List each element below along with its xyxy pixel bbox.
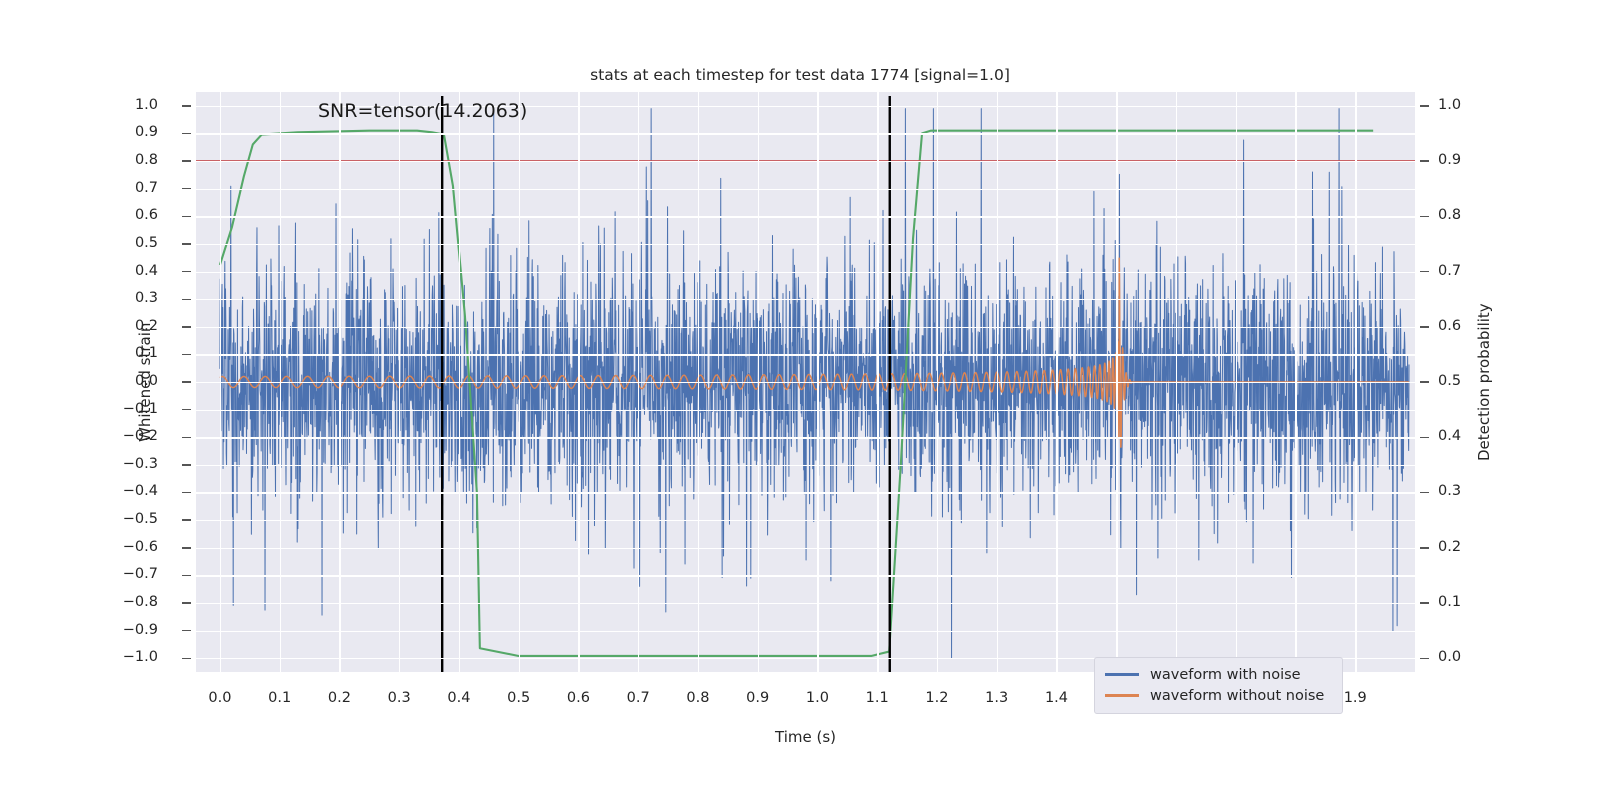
gridline-horizontal (196, 575, 1415, 576)
y-tick-mark-left (182, 409, 191, 410)
gridline-horizontal (196, 520, 1415, 521)
gridline-horizontal (196, 244, 1415, 245)
gridline-vertical (1295, 92, 1296, 672)
gridline-vertical (937, 92, 938, 672)
y-tick-mark-left (182, 381, 191, 382)
y-tick-label-left: 0.9 (110, 124, 158, 140)
legend-item[interactable]: waveform without noise (1105, 685, 1332, 706)
gridline-vertical (997, 92, 998, 672)
gridline-horizontal (196, 299, 1415, 300)
y-tick-label-right: 0.8 (1438, 207, 1461, 223)
gridline-horizontal (196, 327, 1415, 328)
gridline-vertical (399, 92, 400, 672)
y-tick-mark-left (182, 437, 191, 438)
gridline-horizontal (196, 133, 1415, 134)
x-tick-label: 1.0 (787, 690, 847, 706)
y-tick-label-left: −1.0 (110, 649, 158, 665)
y-tick-mark-right (1420, 602, 1429, 603)
y-tick-label-right: 0.0 (1438, 649, 1461, 665)
x-tick-label: 1.4 (1026, 690, 1086, 706)
y-tick-label-left: −0.1 (110, 401, 158, 417)
plot-area (196, 92, 1415, 672)
gridline-vertical (459, 92, 460, 672)
x-tick-label: 0.3 (369, 690, 429, 706)
y-tick-label-left: 0.8 (110, 152, 158, 168)
snr-annotation: SNR=tensor(14.2063) (318, 100, 527, 122)
y-tick-label-right: 0.5 (1438, 373, 1461, 389)
y-tick-label-left: −0.6 (110, 539, 158, 555)
gridline-vertical (339, 92, 340, 672)
x-tick-label: 1.1 (847, 690, 907, 706)
gridline-horizontal (196, 410, 1415, 411)
gridline-vertical (280, 92, 281, 672)
gridline-vertical (220, 92, 221, 672)
x-tick-label: 0.1 (250, 690, 310, 706)
x-tick-label: 1.3 (967, 690, 1027, 706)
y-tick-label-left: 0.6 (110, 207, 158, 223)
y-tick-mark-left (182, 519, 191, 520)
gridline-vertical (1176, 92, 1177, 672)
gridline-horizontal (196, 492, 1415, 493)
y-tick-mark-left (182, 354, 191, 355)
x-axis-label: Time (s) (196, 728, 1415, 746)
matplotlib-figure: stats at each timestep for test data 177… (0, 0, 1600, 800)
y-tick-mark-right (1420, 105, 1429, 106)
gridline-vertical (638, 92, 639, 672)
y-tick-label-right: 0.9 (1438, 152, 1461, 168)
y-tick-mark-left (182, 160, 191, 161)
legend-label: waveform with noise (1150, 667, 1301, 683)
y-tick-mark-left (182, 602, 191, 603)
x-tick-label: 0.8 (668, 690, 728, 706)
gridline-horizontal (196, 354, 1415, 355)
gridline-vertical (1116, 92, 1117, 672)
gridline-horizontal (196, 548, 1415, 549)
y-tick-label-right: 0.2 (1438, 539, 1461, 555)
y-tick-label-left: −0.8 (110, 594, 158, 610)
x-tick-label: 0.9 (728, 690, 788, 706)
x-tick-label: 1.2 (907, 690, 967, 706)
legend-item[interactable]: waveform with noise (1105, 664, 1332, 685)
y-tick-label-left: 0.0 (110, 373, 158, 389)
y-tick-label-right: 0.3 (1438, 483, 1461, 499)
gridline-horizontal (196, 216, 1415, 217)
legend-swatch-icon (1105, 673, 1139, 675)
y-tick-mark-right (1420, 547, 1429, 548)
gridline-vertical (1056, 92, 1057, 672)
x-tick-label: 0.5 (489, 690, 549, 706)
y-tick-mark-left (182, 299, 191, 300)
legend-swatch-icon (1105, 694, 1139, 696)
chart-legend: waveform with noisewaveform without nois… (1094, 657, 1343, 714)
y-tick-mark-right (1420, 326, 1429, 327)
y-tick-label-right: 0.7 (1438, 263, 1461, 279)
y-tick-label-left: −0.2 (110, 428, 158, 444)
y-tick-label-left: 1.0 (110, 97, 158, 113)
y-tick-mark-left (182, 188, 191, 189)
gridline-horizontal (196, 465, 1415, 466)
y-tick-mark-right (1420, 160, 1429, 161)
y-tick-mark-left (182, 133, 191, 134)
y-tick-label-left: 0.7 (110, 180, 158, 196)
chart-title: stats at each timestep for test data 177… (0, 66, 1600, 84)
gridline-vertical (519, 92, 520, 672)
x-tick-label: 0.0 (190, 690, 250, 706)
gridline-horizontal (196, 631, 1415, 632)
y-tick-label-left: −0.3 (110, 456, 158, 472)
y-tick-label-left: 0.4 (110, 263, 158, 279)
y-tick-mark-left (182, 243, 191, 244)
gridline-horizontal (196, 437, 1415, 438)
y-tick-mark-left (182, 547, 191, 548)
y-tick-mark-right (1420, 658, 1429, 659)
y-tick-mark-right (1420, 492, 1429, 493)
y-tick-label-left: 0.1 (110, 345, 158, 361)
y-tick-mark-left (182, 105, 191, 106)
gridline-vertical (578, 92, 579, 672)
gridline-horizontal (196, 272, 1415, 273)
gridline-vertical (1355, 92, 1356, 672)
y-tick-label-left: 0.2 (110, 318, 158, 334)
y-tick-label-left: −0.5 (110, 511, 158, 527)
gridline-vertical (698, 92, 699, 672)
y-tick-label-right: 0.6 (1438, 318, 1461, 334)
y-tick-label-left: −0.7 (110, 566, 158, 582)
y-tick-mark-left (182, 326, 191, 327)
y-tick-mark-left (182, 271, 191, 272)
gridline-vertical (817, 92, 818, 672)
gridline-horizontal (196, 603, 1415, 604)
gridline-horizontal (196, 382, 1415, 383)
gridline-horizontal (196, 161, 1415, 162)
y-tick-label-left: −0.4 (110, 483, 158, 499)
y-tick-mark-left (182, 216, 191, 217)
gridline-vertical (877, 92, 878, 672)
gridline-vertical (758, 92, 759, 672)
x-tick-label: 0.4 (429, 690, 489, 706)
gridline-horizontal (196, 189, 1415, 190)
y-tick-mark-right (1420, 437, 1429, 438)
y-axis-label-right: Detection probability (1475, 303, 1493, 461)
x-tick-label: 0.6 (548, 690, 608, 706)
gridline-vertical (1236, 92, 1237, 672)
y-tick-mark-left (182, 630, 191, 631)
y-tick-mark-right (1420, 216, 1429, 217)
y-tick-mark-left (182, 658, 191, 659)
y-tick-label-left: 0.5 (110, 235, 158, 251)
y-tick-mark-left (182, 464, 191, 465)
y-tick-label-left: 0.3 (110, 290, 158, 306)
x-tick-label: 0.2 (309, 690, 369, 706)
y-tick-mark-right (1420, 271, 1429, 272)
y-tick-label-right: 0.1 (1438, 594, 1461, 610)
x-tick-label: 0.7 (608, 690, 668, 706)
y-tick-mark-right (1420, 381, 1429, 382)
legend-label: waveform without noise (1150, 688, 1324, 704)
y-tick-label-right: 0.4 (1438, 428, 1461, 444)
y-tick-label-right: 1.0 (1438, 97, 1461, 113)
y-tick-mark-left (182, 492, 191, 493)
y-tick-label-left: −0.9 (110, 622, 158, 638)
y-tick-mark-left (182, 575, 191, 576)
